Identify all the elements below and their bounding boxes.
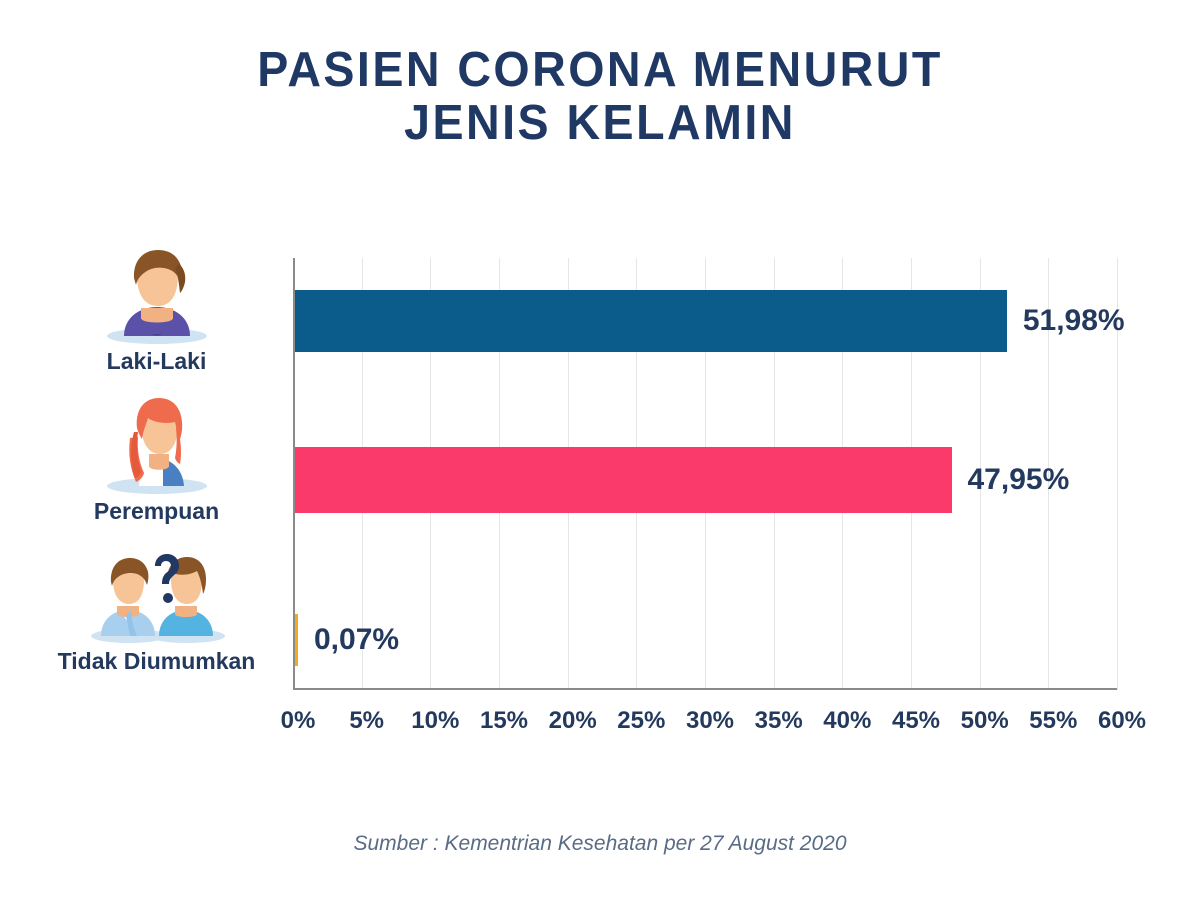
x-tick-label: 25% <box>617 707 665 735</box>
x-tick-label: 15% <box>480 707 528 735</box>
x-tick-label: 10% <box>411 707 459 735</box>
bar-value-label: 0,07% <box>314 623 399 657</box>
bar-value-label: 51,98% <box>1023 304 1125 338</box>
x-tick-label: 30% <box>686 707 734 735</box>
x-tick-label: 50% <box>961 707 1009 735</box>
plot-area: 51,98%47,95%0,07% <box>293 258 1117 690</box>
category-perempuan: Perempuan <box>20 398 293 525</box>
female-avatar-icon <box>67 398 247 494</box>
two-people-question-mark-icon <box>67 548 247 644</box>
x-axis-tick-labels: 0%5%10%15%20%25%30%35%40%45%50%55%60% <box>0 707 1200 741</box>
bar-value-label: 47,95% <box>968 463 1070 497</box>
category-laki-laki: Laki-Laki <box>20 248 293 375</box>
x-tick-label: 0% <box>281 707 316 735</box>
x-tick-label: 55% <box>1029 707 1077 735</box>
x-tick-label: 5% <box>349 707 384 735</box>
x-tick-label: 60% <box>1098 707 1146 735</box>
category-label: Laki-Laki <box>20 348 293 375</box>
bar[interactable] <box>293 290 1007 352</box>
category-label: Perempuan <box>20 498 293 525</box>
y-axis-line <box>293 258 295 690</box>
category-tidak-diumumkan: Tidak Diumumkan <box>20 548 293 675</box>
male-avatar-icon <box>67 248 247 344</box>
x-tick-label: 35% <box>755 707 803 735</box>
category-label: Tidak Diumumkan <box>20 648 293 675</box>
x-tick-label: 40% <box>823 707 871 735</box>
infographic-canvas: PASIEN CORONA MENURUT JENIS KELAMIN 51,9… <box>0 0 1200 901</box>
bar[interactable] <box>293 447 952 513</box>
source-note: Sumber : Kementrian Kesehatan per 27 Aug… <box>0 832 1200 856</box>
x-tick-label: 20% <box>549 707 597 735</box>
x-tick-label: 45% <box>892 707 940 735</box>
x-axis-line <box>293 688 1117 690</box>
